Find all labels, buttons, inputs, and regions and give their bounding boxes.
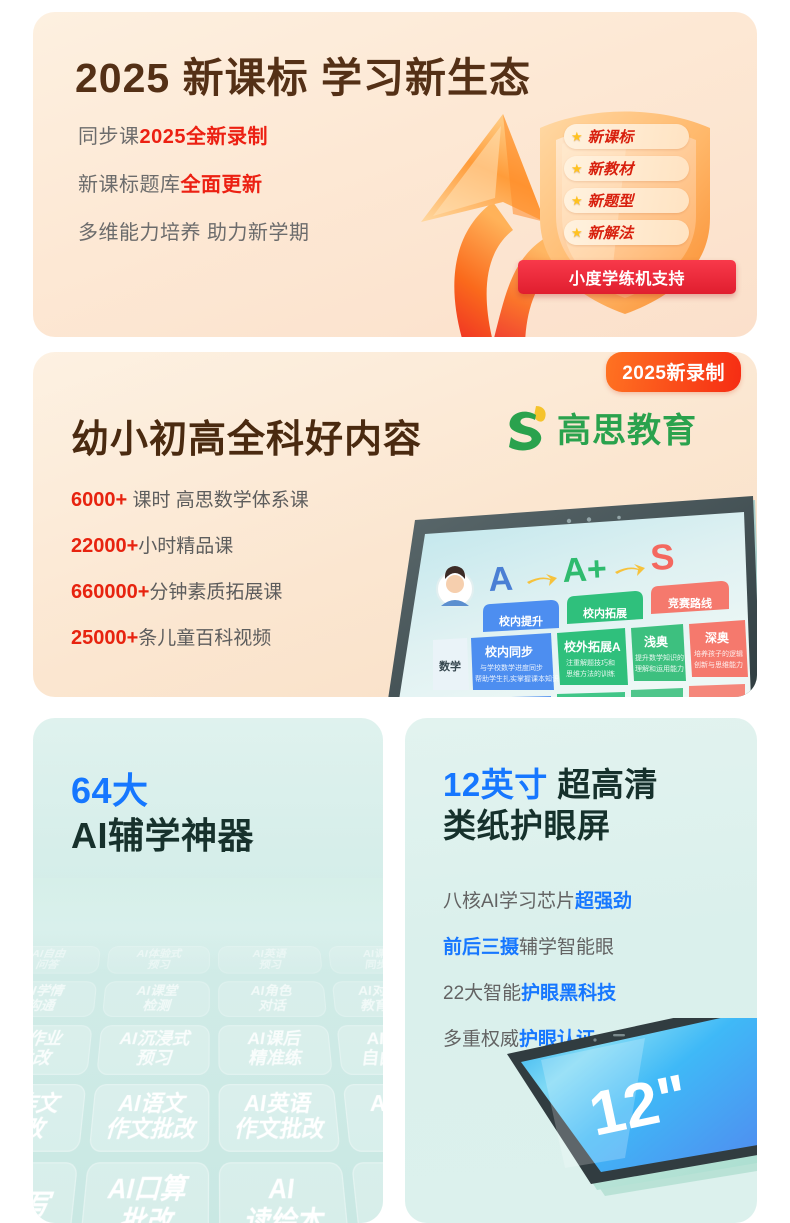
text-plain: 八核AI学习芯片: [443, 891, 575, 912]
card1-feature-row: 同步课2025全新录制: [78, 120, 310, 149]
ai-tile[interactable]: AI学情沟通: [33, 981, 97, 1017]
shield-chip-label: 新题型: [588, 190, 634, 211]
ai-tile[interactable]: AI课后精准练: [218, 1025, 332, 1075]
stat-number: 660000+: [71, 581, 149, 603]
ai-tile-row: AI作业批改 AI沉浸式预习 AI课后精准练 AI英语自由对话: [33, 1025, 383, 1075]
svg-text:校内同步: 校内同步: [485, 644, 533, 659]
card-gaosi-content: 2025新录制 幼小初高全科好内容 高思教育 6000+ 课时 高思数学体系课 …: [33, 352, 757, 697]
stat-number: 6000+: [71, 489, 127, 511]
card1-feature-row: 多维能力培养 助力新学期: [78, 216, 310, 245]
card1-feature-list: 同步课2025全新录制 新课标题库全面更新 多维能力培养 助力新学期: [78, 120, 310, 264]
svg-text:S: S: [649, 536, 675, 578]
text-plain: 22大智能: [443, 983, 521, 1004]
gaosi-brand-text: 高思教育: [557, 403, 697, 452]
svg-text:思维方法的训练: 思维方法的训练: [566, 669, 615, 678]
text-plain: 多维能力培养 助力新学期: [78, 222, 310, 244]
star-icon: ★: [571, 130, 583, 143]
shield-chip-label: 新教材: [588, 158, 634, 179]
ai-tile[interactable]: AI口算批改: [78, 1162, 209, 1223]
ai-tile[interactable]: AI背诵: [351, 1162, 383, 1223]
ai-tile[interactable]: AI课堂检测: [101, 981, 209, 1017]
ai-tile[interactable]: AI课堂同步学: [328, 946, 384, 974]
svg-text:校内拓展: 校内拓展: [583, 606, 628, 620]
text-highlight: 全面更新: [181, 174, 263, 196]
tablet-angled-illustration: 12": [445, 1018, 757, 1223]
text-plain: 辅学智能眼: [519, 937, 614, 958]
stat-label: 课时 高思数学体系课: [127, 490, 309, 511]
card-ai-tools: 64大 AI辅学神器 AI自由问答 AI体验式预习 AI英语预习 AI课堂同步学…: [33, 718, 383, 1223]
svg-text:A+: A+: [561, 550, 607, 590]
tablet-device-illustration: A A+ S 校内提升 校内拓展 竞赛路线 数学: [363, 494, 757, 697]
svg-text:创新与思维能力: 创新与思维能力: [694, 660, 743, 669]
ai-tile-row: AI学情沟通 AI课堂检测 AI角色对话 AI对话式教育问答: [33, 981, 383, 1017]
svg-text:深奥: 深奥: [705, 630, 730, 645]
ai-tile[interactable]: AI作文批改: [342, 1084, 383, 1152]
text-highlight: 前后三摄: [443, 937, 519, 958]
card2-title: 幼小初高全科好内容: [71, 408, 422, 463]
svg-text:校内提升: 校内提升: [499, 614, 543, 628]
ai-tile[interactable]: AI英语自由对话: [336, 1025, 383, 1075]
ai-tools-grid: AI自由问答 AI体验式预习 AI英语预习 AI课堂同步学 AI学情沟通 AI课…: [33, 946, 383, 1223]
svg-text:帮助学生扎实掌握课本知识: 帮助学生扎实掌握课本知识: [475, 674, 559, 683]
title-highlight: 12英寸: [443, 766, 548, 803]
ai-tile[interactable]: AI英语作文批改: [219, 1084, 340, 1152]
shield-chip-label: 新课标: [588, 126, 634, 147]
ai-tile[interactable]: AI语文作文批改: [88, 1084, 209, 1152]
stat-label: 分钟素质拓展课: [149, 582, 282, 603]
ai-tile[interactable]: AI作业批改: [33, 1025, 92, 1075]
shield-chip: ★ 新课标: [564, 124, 689, 149]
stat-row: 660000+分钟素质拓展课: [71, 577, 309, 604]
card4-title: 12英寸 超高清 类纸护眼屏: [443, 764, 658, 847]
svg-text:注重解题技巧和: 注重解题技巧和: [566, 658, 615, 667]
ai-tile[interactable]: AI英语预习: [218, 946, 322, 974]
shield-ribbon-label: 小度学练机支持: [569, 265, 685, 289]
svg-text:竞赛路线: 竞赛路线: [668, 596, 712, 610]
svg-text:培养孩子的逻辑: 培养孩子的逻辑: [694, 649, 743, 658]
ai-tile[interactable]: AI体验式预习: [106, 946, 210, 974]
stat-row: 25000+条儿童百科视频: [71, 623, 309, 650]
star-icon: ★: [571, 194, 583, 207]
ai-tile[interactable]: AI读绘本: [219, 1162, 350, 1223]
star-icon: ★: [571, 226, 583, 239]
ai-tools-grid-area: AI自由问答 AI体验式预习 AI英语预习 AI课堂同步学 AI学情沟通 AI课…: [33, 878, 383, 1223]
svg-text:数学: 数学: [439, 659, 461, 673]
title-rest: 超高清: [548, 766, 658, 803]
ai-tile-row: AI自由问答 AI体验式预习 AI英语预习 AI课堂同步学: [33, 946, 383, 974]
card2-stats-list: 6000+ 课时 高思数学体系课 22000+小时精品课 660000+分钟素质…: [71, 485, 309, 669]
feature-row: 22大智能护眼黑科技: [443, 978, 632, 1005]
text-plain: 同步课: [78, 126, 140, 148]
card4-title-line1: 12英寸 超高清: [443, 764, 658, 805]
star-icon: ★: [571, 162, 583, 175]
ai-tile[interactable]: AI自由问答: [33, 946, 101, 974]
card4-title-line2: 类纸护眼屏: [443, 805, 658, 846]
card1-title: 2025 新课标 学习新生态: [75, 44, 531, 104]
svg-text:理解和运用能力: 理解和运用能力: [635, 664, 684, 673]
ai-tile-row: AI作文批改 AI语文作文批改 AI英语作文批改 AI作文批改: [33, 1084, 383, 1152]
stat-label: 小时精品课: [138, 536, 233, 557]
text-highlight: 超强劲: [575, 891, 632, 912]
svg-text:A: A: [487, 560, 514, 599]
shield-chip: ★ 新题型: [564, 188, 689, 213]
feature-row: 八核AI学习芯片超强劲: [443, 886, 632, 913]
ai-tile[interactable]: AI沉浸式预习: [96, 1025, 210, 1075]
card3-title-main: AI辅学神器: [71, 807, 254, 859]
ai-tile[interactable]: AI作文批改: [33, 1084, 86, 1152]
shield-chip-label: 新解法: [588, 222, 634, 243]
stat-row: 6000+ 课时 高思数学体系课: [71, 485, 309, 512]
stat-number: 22000+: [71, 535, 138, 557]
ai-tile[interactable]: AI角色对话: [218, 981, 326, 1017]
shield-chip-list: ★ 新课标 ★ 新教材 ★ 新题型 ★ 新解法: [564, 124, 689, 252]
gaosi-s-mark-icon: [503, 402, 549, 452]
text-highlight: 护眼黑科技: [521, 983, 616, 1004]
feature-row: 前后三摄辅学智能眼: [443, 932, 632, 959]
svg-text:与学校数学进度同步: 与学校数学进度同步: [480, 663, 543, 672]
gaosi-brand-logo: 高思教育: [503, 402, 697, 452]
card-new-standard: 2025 新课标 学习新生态 同步课2025全新录制 新课标题库全面更新 多维能…: [33, 12, 757, 337]
card-screen-spec: 12英寸 超高清 类纸护眼屏 八核AI学习芯片超强劲 前后三摄辅学智能眼 22大…: [405, 718, 757, 1223]
shield-badge: ★ 新课标 ★ 新教材 ★ 新题型 ★ 新解法 小度学练机支持: [510, 100, 745, 325]
shield-chip: ★ 新教材: [564, 156, 689, 181]
svg-text:提升数学知识的: 提升数学知识的: [635, 653, 684, 662]
stat-number: 25000+: [71, 627, 138, 649]
shield-ribbon: 小度学练机支持: [518, 260, 736, 294]
stat-row: 22000+小时精品课: [71, 531, 309, 558]
ai-tile-row: AI听写 AI口算批改 AI读绘本 AI背诵: [33, 1162, 383, 1223]
svg-text:校外拓展A: 校外拓展A: [564, 639, 621, 654]
badge-2025-new: 2025新录制: [606, 352, 741, 392]
ai-tile[interactable]: AI对话式教育问答: [331, 981, 383, 1017]
text-plain: 新课标题库: [78, 174, 181, 196]
ai-tile[interactable]: AI听写: [33, 1162, 77, 1223]
card1-feature-row: 新课标题库全面更新: [78, 168, 310, 197]
product-detail-page: 2025 新课标 学习新生态 同步课2025全新录制 新课标题库全面更新 多维能…: [0, 0, 790, 1223]
shield-chip: ★ 新解法: [564, 220, 689, 245]
stat-label: 条儿童百科视频: [138, 628, 271, 649]
text-highlight: 2025全新录制: [140, 126, 269, 148]
svg-text:浅奥: 浅奥: [644, 634, 669, 649]
